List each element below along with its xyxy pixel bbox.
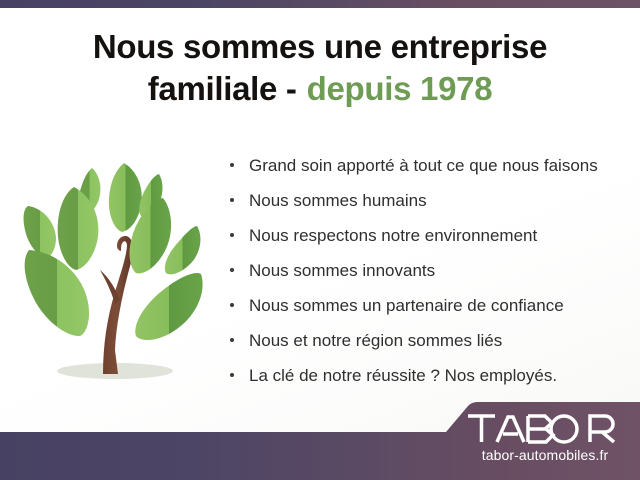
- list-item: Grand soin apporté à tout ce que nous fa…: [228, 152, 628, 187]
- list-item-label: Nous sommes innovants: [249, 261, 435, 280]
- footer-bar: tabor-automobiles.fr: [0, 398, 640, 480]
- bullet-dot-icon: [230, 338, 234, 342]
- bullet-dot-icon: [230, 163, 234, 167]
- list-item: La clé de notre réussite ? Nos employés.: [228, 362, 628, 397]
- bullet-dot-icon: [230, 373, 234, 377]
- list-item: Nous respectons notre environnement: [228, 222, 628, 257]
- list-item-label: Nous sommes un partenaire de confiance: [249, 296, 564, 315]
- tree-trunk: [103, 236, 133, 374]
- page-title-line-2-black: familiale -: [148, 70, 297, 107]
- list-item-label: Grand soin apporté à tout ce que nous fa…: [249, 156, 598, 175]
- brand-logo[interactable]: tabor-automobiles.fr: [466, 412, 636, 474]
- bullet-dot-icon: [230, 268, 234, 272]
- page-title-accent: depuis 1978: [307, 70, 493, 107]
- list-item: Nous et notre région sommes liés: [228, 327, 628, 362]
- brand-tagline: tabor-automobiles.fr: [466, 447, 624, 463]
- page-title-line-2: familiale -depuis 1978: [0, 68, 640, 110]
- top-accent-bar: [0, 0, 640, 8]
- tree-leaf: [24, 206, 56, 258]
- tree-leaf: [135, 273, 202, 340]
- tree-leaf: [109, 163, 142, 232]
- tree-illustration: [8, 150, 213, 390]
- list-item-label: La clé de notre réussite ? Nos employés.: [249, 366, 557, 385]
- page-title-line-1: Nous sommes une entreprise: [0, 26, 640, 68]
- list-item-label: Nous respectons notre environnement: [249, 226, 537, 245]
- list-item: Nous sommes humains: [228, 187, 628, 222]
- list-item-label: Nous et notre région sommes liés: [249, 331, 502, 350]
- benefits-list: Grand soin apporté à tout ce que nous fa…: [228, 152, 628, 397]
- slide-canvas: Nous sommes une entreprise familiale -de…: [0, 0, 640, 480]
- list-item: Nous sommes un partenaire de confiance: [228, 292, 628, 327]
- tabor-wordmark-icon: [468, 416, 614, 442]
- bullet-dot-icon: [230, 303, 234, 307]
- bullet-dot-icon: [230, 198, 234, 202]
- list-item: Nous sommes innovants: [228, 257, 628, 292]
- list-item-label: Nous sommes humains: [249, 191, 427, 210]
- page-title: Nous sommes une entreprise familiale -de…: [0, 26, 640, 109]
- bullet-dot-icon: [230, 233, 234, 237]
